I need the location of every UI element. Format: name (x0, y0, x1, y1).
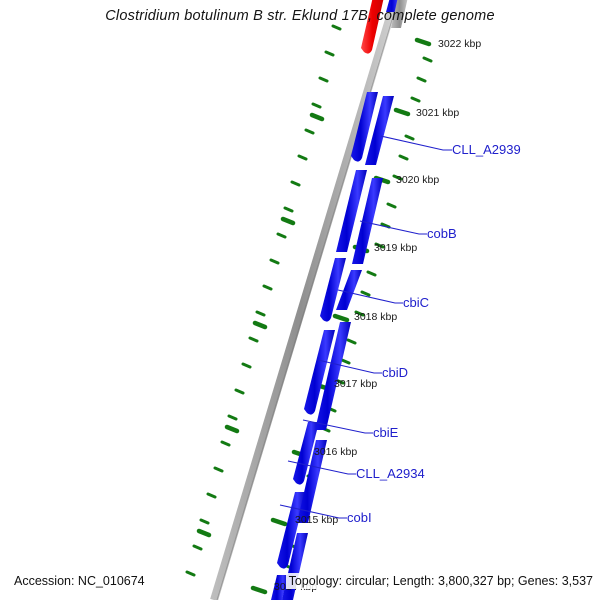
gene-leader-line (381, 136, 452, 150)
genome-map-canvas[interactable]: 3022 kbp 3021 kbp 3020 kbp 3019 kbp 3018… (0, 0, 600, 600)
gene-label-cll_a2939[interactable]: CLL_A2939 (452, 142, 521, 157)
genome-map-viewer[interactable]: Clostridium botulinum B str. Eklund 17B,… (0, 0, 600, 600)
gene-label-cbid[interactable]: cbiD (382, 365, 408, 380)
page-title: Clostridium botulinum B str. Eklund 17B,… (0, 8, 600, 24)
ruler-tick-label: 3022 kbp (438, 38, 481, 50)
ruler-tick-label: 3017 kbp (334, 378, 377, 390)
ruler-tick-label: 3018 kbp (354, 311, 397, 323)
gene-label-cobi[interactable]: cobI (347, 510, 372, 525)
gene-label-cbic[interactable]: cbiC (403, 295, 429, 310)
gene-label-cbie[interactable]: cbiE (373, 425, 399, 440)
gene-label-cobb[interactable]: cobB (427, 226, 457, 241)
gene-label-cll_a2934[interactable]: CLL_A2934 (356, 466, 425, 481)
ruler-tick-label: 3020 kbp (396, 174, 439, 186)
ruler-tick-label: 3021 kbp (416, 107, 459, 119)
ruler-tick-label: 3016 kbp (314, 446, 357, 458)
inner-ruler-arc (253, 40, 431, 592)
ruler-tick-label: 3015 kbp (295, 514, 338, 526)
outer-ruler-arc (187, 26, 340, 575)
gene-feature[interactable] (320, 258, 346, 322)
ruler-tick-label: 3019 kbp (374, 242, 417, 254)
ruler-tick-label: 3014 kbp (274, 581, 317, 593)
